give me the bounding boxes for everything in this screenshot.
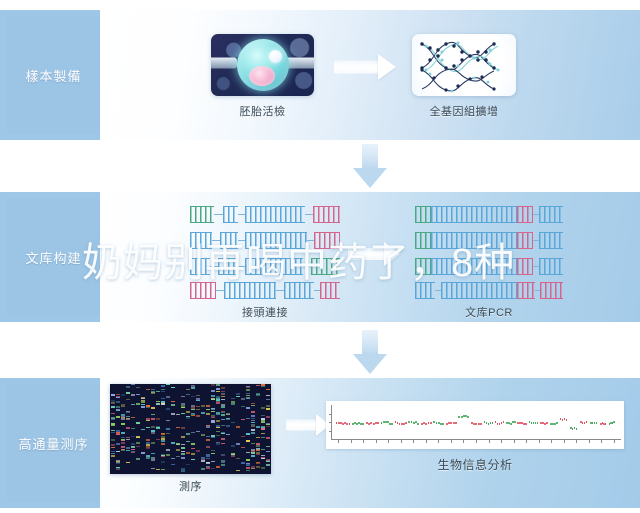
gel-band: [256, 466, 260, 468]
gel-band: [116, 433, 120, 435]
gel-band: [186, 433, 190, 435]
gel-band: [111, 444, 115, 446]
gel-band: [266, 424, 270, 425]
gel-band: [266, 405, 270, 407]
gel-lane: [121, 384, 125, 474]
gel-band: [186, 452, 190, 454]
cnv-data-point: [531, 422, 533, 424]
gel-band: [216, 402, 220, 404]
gel-band: [156, 439, 160, 440]
plot-x-tick: [576, 440, 577, 443]
gel-band: [191, 409, 195, 410]
workflow-diagram: 樣本製備 胚胎活檢: [0, 0, 640, 513]
gel-band: [266, 426, 270, 427]
gel-band: [161, 454, 165, 456]
gel-band: [236, 443, 240, 445]
gel-band: [246, 433, 250, 435]
gel-band: [111, 413, 115, 414]
gel-band: [121, 437, 125, 438]
gel-band: [126, 447, 130, 449]
gel-band: [151, 468, 155, 469]
gel-band: [221, 433, 225, 434]
gel-band: [146, 389, 150, 390]
gel-band: [211, 411, 215, 412]
gel-band: [151, 459, 155, 461]
gel-lane: [131, 384, 135, 474]
gel-lane: [176, 384, 180, 474]
gel-band: [111, 394, 115, 396]
gel-band: [201, 434, 205, 436]
gel-band: [126, 399, 130, 400]
cnv-data-point: [556, 422, 558, 424]
gel-band: [211, 416, 215, 418]
gel-band: [251, 443, 255, 444]
gel-band: [256, 426, 260, 428]
gel-band: [126, 437, 130, 438]
cnv-data-point: [405, 422, 407, 424]
plot-x-tick: [476, 440, 477, 443]
gel-band: [211, 468, 215, 469]
gel-band: [181, 470, 185, 472]
cnv-data-point: [362, 423, 364, 425]
gel-band: [241, 447, 245, 448]
sidebar-item-sample-prep[interactable]: 樣本製備: [7, 16, 100, 134]
gel-band: [261, 428, 265, 430]
gel-band: [221, 425, 225, 426]
gel-band: [181, 396, 185, 397]
gel-band: [241, 462, 245, 464]
gel-band: [111, 425, 115, 426]
gel-band: [251, 420, 255, 421]
gel-band: [131, 394, 135, 396]
cnv-data-point: [503, 421, 505, 423]
gel-band: [216, 442, 220, 443]
cnv-data-point: [525, 423, 527, 425]
gel-band: [211, 461, 215, 462]
gel-band: [146, 427, 150, 428]
cnv-data-point: [566, 419, 568, 421]
cnv-data-point: [467, 416, 469, 418]
gel-band: [131, 428, 135, 429]
gel-band: [111, 430, 115, 431]
gel-band: [211, 390, 215, 392]
plot-y-tick: [329, 414, 332, 415]
gel-band: [191, 396, 195, 397]
gel-band: [166, 396, 170, 398]
gel-band: [131, 417, 135, 418]
gel-band: [166, 449, 170, 451]
sidebar-item-library-construction[interactable]: 文库构建: [7, 198, 100, 316]
gel-band: [111, 432, 115, 433]
gel-band: [116, 469, 120, 470]
right-arrow-icon: [348, 242, 400, 266]
sequencing-gel-icon: [110, 384, 271, 474]
gel-band: [171, 464, 175, 465]
gel-band: [206, 426, 210, 428]
gel-band: [246, 387, 250, 388]
gel-band: [186, 417, 190, 419]
plot-y-tick: [329, 422, 332, 423]
cnv-data-point: [510, 423, 512, 425]
gel-band: [221, 462, 225, 463]
gel-lane: [126, 384, 130, 474]
gel-band: [126, 392, 130, 394]
gel-band: [111, 417, 115, 419]
gel-band: [131, 404, 135, 405]
gel-lane: [221, 384, 225, 474]
gel-lane: [241, 384, 245, 474]
cnv-data-point: [613, 421, 615, 423]
gel-band: [151, 430, 155, 432]
cnv-data-point: [514, 421, 516, 423]
gel-band: [251, 429, 255, 431]
cnv-data-point: [458, 416, 460, 418]
cnv-data-point: [480, 423, 482, 425]
plot-x-tick: [589, 440, 590, 443]
gel-band: [151, 457, 155, 459]
gel-band: [256, 445, 260, 447]
row-library-construction: 文库构建: [0, 192, 640, 322]
gel-band: [131, 436, 135, 437]
plot-x-tick: [338, 440, 339, 443]
gel-band: [266, 389, 270, 390]
plot-x-tick: [614, 440, 615, 443]
gel-band: [131, 452, 135, 453]
gel-band: [216, 420, 220, 422]
gel-band: [266, 446, 270, 447]
gel-band: [231, 445, 235, 447]
cnv-data-point: [486, 422, 488, 424]
cnv-data-point: [605, 423, 607, 425]
gel-band: [176, 449, 180, 451]
gel-band: [241, 398, 245, 400]
gel-lane: [206, 384, 210, 474]
sidebar-item-label: 高通量测序: [18, 434, 88, 453]
gel-band: [126, 412, 130, 413]
gel-band: [141, 398, 145, 399]
plot-x-tick: [601, 440, 602, 443]
gel-band: [121, 449, 125, 450]
gel-band: [211, 453, 215, 454]
gel-band: [121, 406, 125, 407]
gel-band: [186, 464, 190, 465]
cnv-data-point: [450, 422, 452, 424]
gel-band: [196, 431, 200, 432]
gel-band: [266, 464, 270, 466]
gel-band: [261, 386, 265, 387]
cnv-data-point: [537, 422, 539, 424]
gel-band: [196, 398, 200, 399]
gel-band: [116, 430, 120, 432]
gel-band: [116, 467, 120, 468]
gel-band: [251, 411, 255, 413]
gel-band: [126, 411, 130, 412]
gel-band: [161, 434, 165, 435]
gel-band: [246, 467, 250, 469]
cnv-data-point: [442, 423, 444, 425]
plot-x-tick: [413, 440, 414, 443]
gel-band: [131, 446, 135, 448]
sidebar-item-high-throughput-sequencing[interactable]: 高通量测序: [7, 384, 100, 502]
polar-body-icon: [269, 50, 282, 63]
gel-band: [201, 459, 205, 460]
gel-band: [206, 454, 210, 456]
pipette-right-icon: [284, 57, 314, 68]
gel-band: [216, 466, 220, 468]
gel-band: [221, 443, 225, 444]
gel-band: [266, 437, 270, 439]
gel-band: [256, 454, 260, 455]
gel-band: [266, 451, 270, 452]
gel-band: [216, 399, 220, 401]
gel-band: [251, 432, 255, 434]
gel-band: [171, 404, 175, 406]
plot-x-tick: [388, 440, 389, 443]
gel-band: [206, 439, 210, 441]
plot-x-tick: [451, 440, 452, 443]
gel-band: [191, 387, 195, 389]
plot-y-tick: [329, 431, 332, 432]
gel-band: [151, 442, 155, 444]
dna-ladder-icon: [190, 206, 340, 298]
cnv-data-point: [433, 421, 435, 423]
gel-band: [246, 470, 250, 471]
gel-band: [121, 432, 125, 434]
gel-lane: [266, 384, 270, 474]
gel-band: [111, 402, 115, 403]
gel-band: [181, 447, 185, 449]
gel-band: [266, 399, 270, 400]
right-arrow-icon: [334, 54, 396, 80]
gel-band: [196, 409, 200, 410]
gel-band: [141, 404, 145, 405]
gel-band: [111, 423, 115, 425]
gel-band: [256, 437, 260, 438]
plot-x-tick: [551, 440, 552, 443]
gel-band: [216, 435, 220, 436]
gel-band: [136, 422, 140, 424]
gel-band: [246, 418, 250, 419]
gel-band: [211, 421, 215, 423]
gel-band: [156, 418, 160, 420]
gel-band: [251, 452, 255, 454]
gel-band: [206, 413, 210, 415]
plot-x-tick: [438, 440, 439, 443]
gel-band: [251, 425, 255, 427]
row-sample-prep: 樣本製備 胚胎活檢: [0, 10, 640, 140]
gel-band: [261, 455, 265, 456]
gel-band: [256, 448, 260, 449]
gel-band: [261, 467, 265, 469]
sidebar-item-label: 文库构建: [25, 248, 81, 267]
gel-band: [261, 407, 265, 409]
gel-band: [126, 419, 130, 420]
gel-band: [151, 432, 155, 434]
gel-band: [216, 412, 220, 414]
gel-band: [191, 459, 195, 460]
gel-band: [261, 437, 265, 438]
gel-band: [261, 426, 265, 428]
gel-band: [216, 427, 220, 428]
cnv-data-point: [535, 422, 537, 424]
gel-band: [186, 411, 190, 413]
gel-band: [116, 462, 120, 464]
gel-band: [131, 384, 135, 385]
gel-band: [241, 436, 245, 437]
gel-band: [246, 459, 250, 461]
plot-x-tick: [401, 440, 402, 443]
gel-band: [266, 416, 270, 418]
gel-lane: [246, 384, 250, 474]
cnv-data-point: [417, 423, 419, 425]
gel-band: [176, 414, 180, 415]
gel-band: [156, 391, 160, 392]
gel-band: [141, 429, 145, 430]
gel-lane: [191, 384, 195, 474]
gel-band: [246, 397, 250, 399]
gel-lane: [116, 384, 120, 474]
gel-band: [136, 436, 140, 438]
gel-band: [126, 416, 130, 417]
embryo-biopsy-icon: [211, 34, 314, 96]
gel-band: [141, 452, 145, 454]
gel-band: [116, 397, 120, 398]
gel-band: [161, 438, 165, 440]
gel-lane: [201, 384, 205, 474]
gel-band: [261, 384, 265, 386]
gel-band: [161, 385, 165, 387]
gel-lane: [181, 384, 185, 474]
gel-band: [146, 457, 150, 459]
gel-band: [211, 435, 215, 437]
dna-helix-icon: [412, 34, 516, 96]
gel-lane: [231, 384, 235, 474]
right-arrow-icon: [286, 414, 330, 436]
gel-band: [206, 456, 210, 457]
figure-caption: 測序: [110, 478, 271, 494]
gel-band: [191, 385, 195, 387]
gel-band: [186, 441, 190, 442]
gel-band: [236, 393, 240, 395]
gel-band: [161, 461, 165, 463]
gel-band: [231, 454, 235, 455]
gel-band: [231, 401, 235, 403]
gel-lane: [166, 384, 170, 474]
gel-band: [116, 401, 120, 403]
gel-band: [201, 412, 205, 414]
gel-band: [211, 450, 215, 451]
gel-lane: [186, 384, 190, 474]
plot-x-tick: [463, 440, 464, 443]
gel-band: [221, 414, 225, 416]
gel-band: [221, 438, 225, 440]
gel-band: [221, 394, 225, 395]
cnv-data-point: [564, 418, 566, 420]
gel-band: [261, 458, 265, 459]
gel-band: [166, 384, 170, 385]
gel-band: [256, 393, 260, 395]
gel-band: [116, 451, 120, 452]
gel-band: [171, 387, 175, 388]
gel-band: [206, 425, 210, 426]
cnv-data-point: [455, 422, 457, 424]
gel-band: [151, 426, 155, 428]
gel-band: [226, 418, 230, 419]
gel-lane: [146, 384, 150, 474]
gel-band: [121, 423, 125, 425]
plot-x-tick: [426, 440, 427, 443]
gel-band: [216, 384, 220, 386]
gel-band: [126, 462, 130, 463]
cnv-plot-icon: [326, 401, 624, 449]
gel-band: [246, 389, 250, 391]
gel-band: [156, 401, 160, 402]
gel-band: [196, 406, 200, 407]
gel-band: [131, 449, 135, 450]
gel-band: [251, 415, 255, 417]
figure-caption: 全基因組擴增: [412, 103, 516, 119]
gel-band: [181, 427, 185, 429]
gel-band: [171, 458, 175, 459]
gel-lane: [226, 384, 230, 474]
plot-x-tick: [376, 440, 377, 443]
gel-band: [251, 468, 255, 469]
gel-band: [241, 406, 245, 407]
gel-band: [196, 400, 200, 401]
gel-band: [261, 449, 265, 450]
gel-band: [151, 453, 155, 454]
plot-x-tick: [363, 440, 364, 443]
gel-band: [161, 391, 165, 392]
gel-band: [216, 391, 220, 392]
gel-band: [246, 407, 250, 409]
gel-band: [161, 443, 165, 445]
gel-band: [231, 398, 235, 399]
gel-band: [181, 457, 185, 459]
gel-lane: [256, 384, 260, 474]
gel-band: [231, 422, 235, 423]
cnv-data-point: [349, 423, 351, 425]
gel-band: [136, 446, 140, 447]
gel-lane: [196, 384, 200, 474]
gel-band: [116, 394, 120, 395]
gel-band: [186, 389, 190, 390]
gel-band: [121, 417, 125, 418]
gel-band: [166, 420, 170, 421]
gel-band: [226, 434, 230, 435]
gel-lane: [136, 384, 140, 474]
gel-band: [191, 443, 195, 445]
cnv-data-point: [488, 423, 490, 425]
gel-band: [176, 456, 180, 457]
gel-band: [111, 447, 115, 448]
gel-band: [161, 436, 165, 438]
gel-band: [246, 395, 250, 396]
gel-band: [206, 467, 210, 469]
gel-band: [116, 396, 120, 397]
gel-band: [141, 406, 145, 408]
gel-band: [151, 391, 155, 393]
gel-band: [226, 414, 230, 415]
gel-band: [161, 440, 165, 442]
gel-band: [211, 384, 215, 386]
gel-band: [111, 406, 115, 408]
gel-band: [116, 460, 120, 461]
gel-band: [156, 403, 160, 405]
gel-band: [181, 407, 185, 408]
gel-band: [221, 406, 225, 408]
gel-band: [216, 443, 220, 445]
